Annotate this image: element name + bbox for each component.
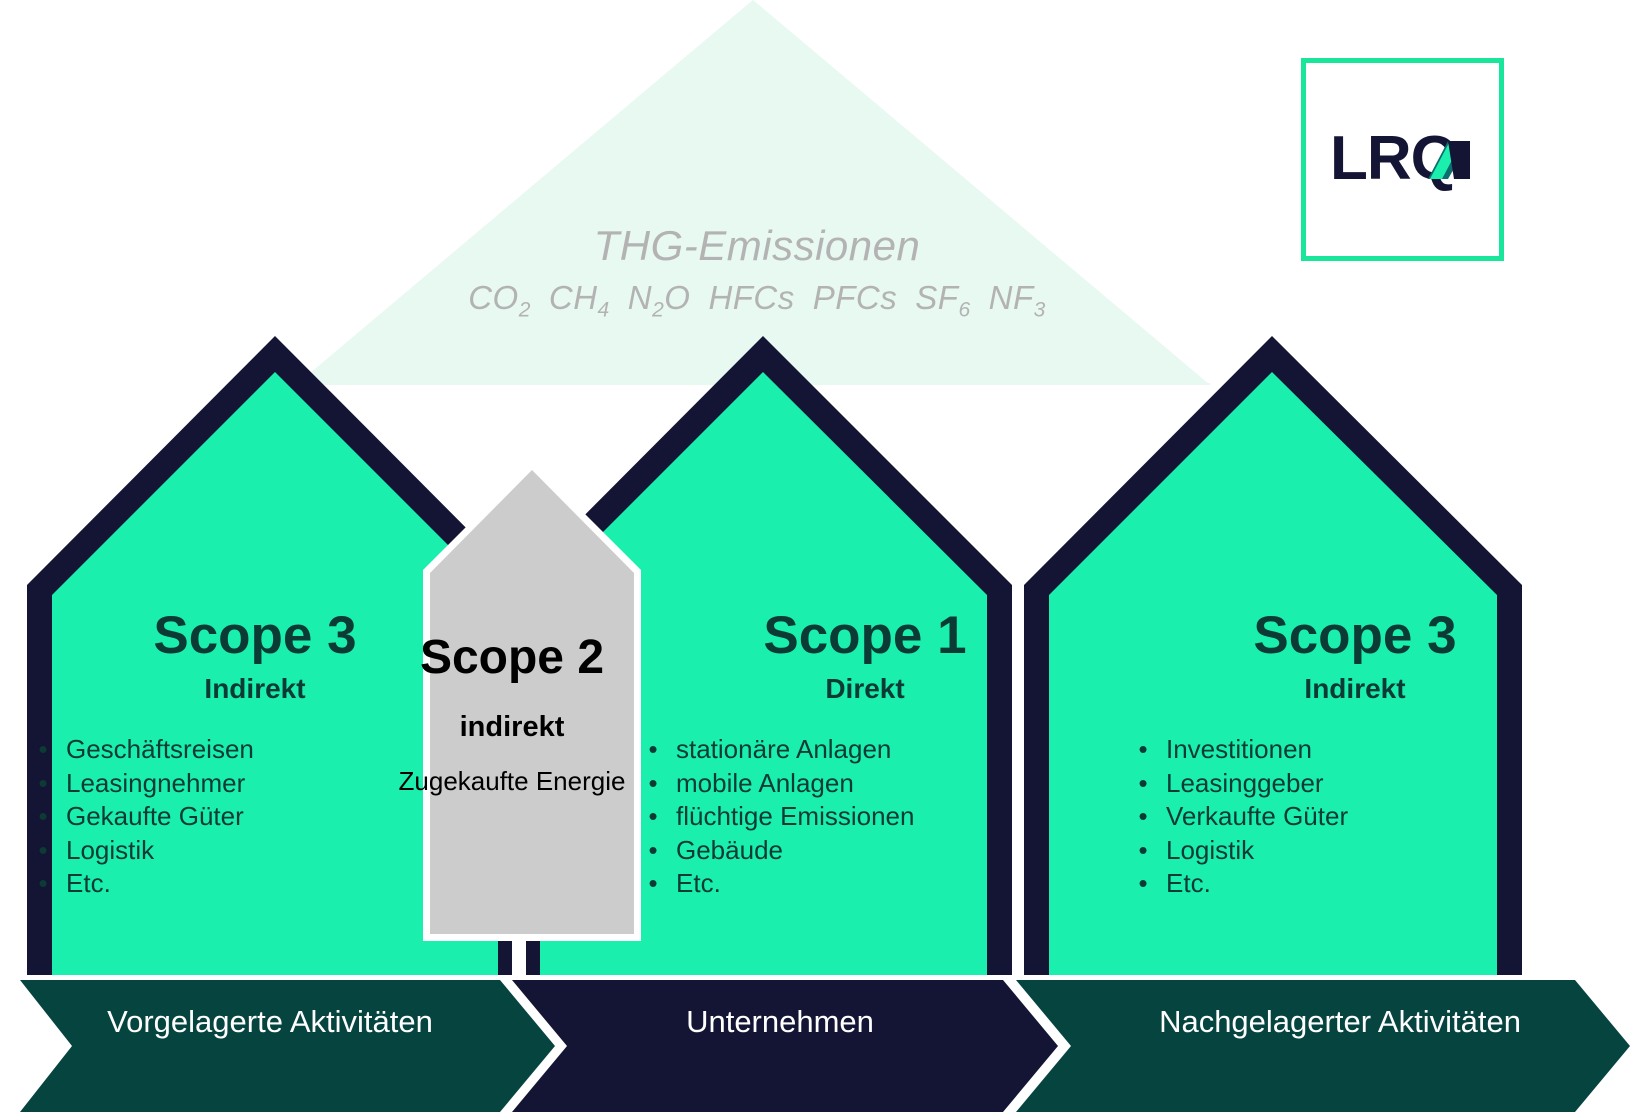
bullet-icon: • — [1120, 733, 1166, 767]
thg-emissions-triangle-lower — [296, 0, 1210, 385]
list-item: •Verkaufte Güter — [1120, 800, 1590, 834]
list-item: •Etc. — [630, 867, 1100, 901]
scope-3-downstream-title: Scope 3 — [1120, 605, 1590, 666]
scope-2-energy-label: Zugekaufte Energie — [383, 766, 641, 797]
thg-gases-list: CO2CH4N2OHFCsPFCsSF6NF3 — [0, 279, 1582, 323]
list-item-label: Investitionen — [1166, 733, 1312, 767]
bullet-icon: • — [1120, 800, 1166, 834]
list-item: •Etc. — [1120, 867, 1590, 901]
gas-co2: CO2 — [468, 279, 531, 316]
bullet-icon: • — [1120, 767, 1166, 801]
list-item: •Leasinggeber — [1120, 767, 1590, 801]
bullet-icon: • — [630, 867, 676, 901]
scope-1-title: Scope 1 — [630, 605, 1100, 666]
bullet-icon: • — [20, 733, 66, 767]
bullet-icon: • — [1120, 834, 1166, 868]
list-item-label: mobile Anlagen — [676, 767, 854, 801]
list-item-label: Logistik — [1166, 834, 1254, 868]
chevron-company-label: Unternehmen — [540, 999, 1020, 1045]
chevron-upstream-label: Vorgelagerte Aktivitäten — [30, 999, 510, 1045]
scope-1-subtitle: Direkt — [630, 673, 1100, 705]
list-item: •Gebäude — [630, 834, 1100, 868]
gas-sf6: SF6 — [915, 279, 970, 316]
bullet-icon: • — [630, 733, 676, 767]
scope-2-subtitle: indirekt — [383, 711, 641, 744]
scope-3-downstream-list: •Investitionen •Leasinggeber •Verkaufte … — [1120, 733, 1590, 901]
list-item-label: flüchtige Emissionen — [676, 800, 914, 834]
list-item-label: Leasingnehmer — [66, 767, 245, 801]
list-item-label: Etc. — [676, 867, 721, 901]
gas-pfcs: PFCs — [813, 279, 898, 316]
chevron-downstream-label: Nachgelagerter Aktivitäten — [1050, 999, 1630, 1045]
gas-hfcs: HFCs — [708, 279, 794, 316]
list-item-label: Logistik — [66, 834, 154, 868]
list-item-label: Verkaufte Güter — [1166, 800, 1348, 834]
gas-n2o: N2O — [628, 279, 691, 316]
scope-2-title: Scope 2 — [383, 630, 641, 685]
diagram-canvas: THG-Emissionen CO2CH4N2OHFCsPFCsSF6NF3 S… — [0, 0, 1650, 1115]
list-item: •flüchtige Emissionen — [630, 800, 1100, 834]
bullet-icon: • — [630, 834, 676, 868]
scope-3-downstream-subtitle: Indirekt — [1120, 673, 1590, 705]
bullet-icon: • — [630, 767, 676, 801]
list-item: •Investitionen — [1120, 733, 1590, 767]
bullet-icon: • — [1120, 867, 1166, 901]
list-item: •Gekaufte Güter — [20, 800, 490, 834]
list-item: •Logistik — [1120, 834, 1590, 868]
gas-ch4: CH4 — [549, 279, 610, 316]
bullet-icon: • — [20, 867, 66, 901]
list-item-label: Gebäude — [676, 834, 783, 868]
list-item-label: Geschäftsreisen — [66, 733, 254, 767]
list-item-label: Etc. — [66, 867, 111, 901]
bullet-icon: • — [20, 767, 66, 801]
gas-nf3: NF3 — [989, 279, 1046, 316]
scope-1-list: •stationäre Anlagen •mobile Anlagen •flü… — [630, 733, 1100, 901]
list-item-label: Gekaufte Güter — [66, 800, 244, 834]
list-item: •stationäre Anlagen — [630, 733, 1100, 767]
house-scope-2-stem — [512, 934, 526, 980]
list-item: •mobile Anlagen — [630, 767, 1100, 801]
list-item-label: Etc. — [1166, 867, 1211, 901]
scope-3-downstream-block: Scope 3 Indirekt •Investitionen •Leasing… — [1120, 605, 1590, 901]
list-item: •Logistik — [20, 834, 490, 868]
lrqa-logo-icon: LRQ — [1330, 127, 1480, 193]
scope-2-block: Scope 2 indirekt Zugekaufte Energie — [383, 630, 641, 797]
list-item: •Etc. — [20, 867, 490, 901]
list-item-label: Leasinggeber — [1166, 767, 1324, 801]
bullet-icon: • — [630, 800, 676, 834]
bullet-icon: • — [20, 834, 66, 868]
scope-1-block: Scope 1 Direkt •stationäre Anlagen •mobi… — [630, 605, 1100, 901]
bullet-icon: • — [20, 800, 66, 834]
list-item-label: stationäre Anlagen — [676, 733, 891, 767]
